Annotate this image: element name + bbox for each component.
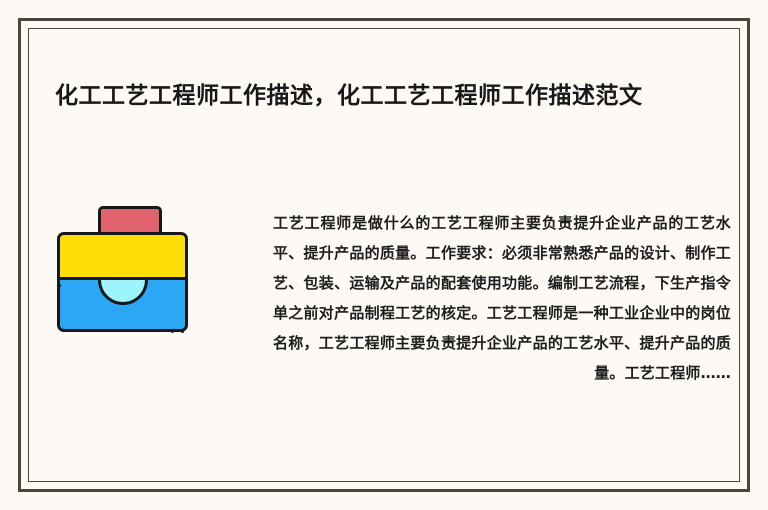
briefcase-dot-bottom-two-icon — [181, 330, 184, 333]
briefcase-dot-left-icon — [58, 284, 61, 287]
article-body-paragraph: 工艺工程师是做什么的工艺工程师主要负责提升企业产品的工艺水平、提升产品的质量。工… — [273, 208, 731, 388]
page-root: 化工工艺工程师工作描述，化工工艺工程师工作描述范文 工艺工程师是做什么的工艺工程… — [0, 0, 768, 510]
briefcase-dot-bottom-one-icon — [171, 330, 174, 333]
briefcase-illustration — [57, 206, 191, 334]
briefcase-body-icon — [57, 232, 188, 332]
briefcase-flap-icon — [60, 235, 185, 280]
page-title: 化工工艺工程师工作描述，化工工艺工程师工作描述范文 — [55, 80, 715, 112]
briefcase-latch-icon — [98, 280, 148, 305]
